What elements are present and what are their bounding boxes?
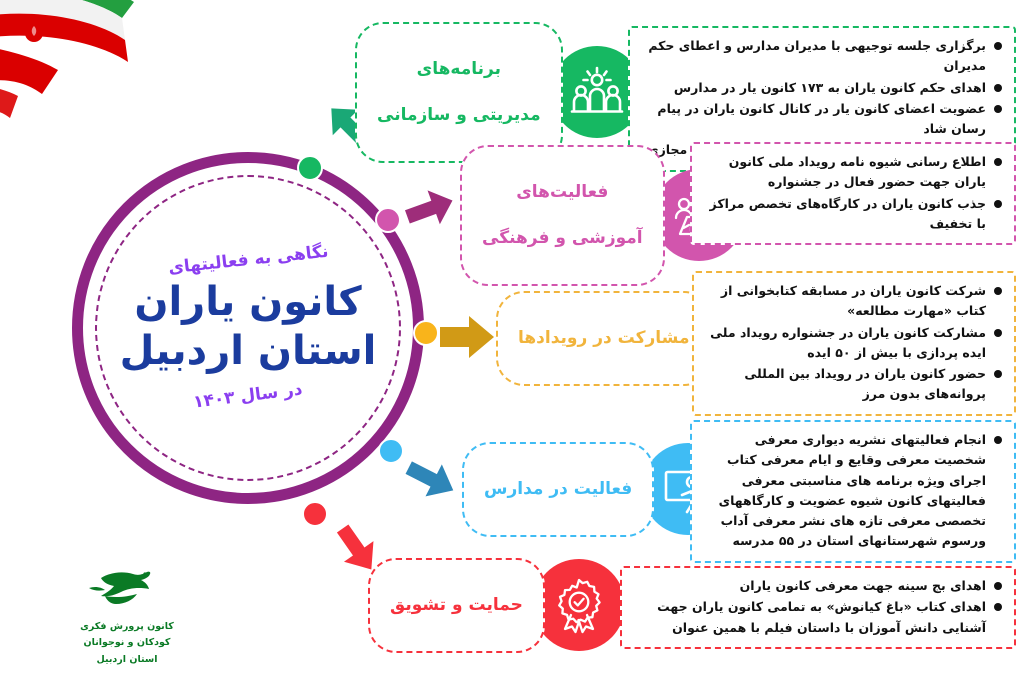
bullets-events-participation: شرکت کانون یاران در مسابقه کتابخوانی از … [692, 271, 1016, 416]
bullet-list-school-activity: انجام فعالیتهای نشریه دیواری معرفی شخصیت… [702, 430, 1002, 552]
bullet-item: اهدای کتاب «باغ کیانوش» به تمامی کانون ی… [632, 597, 1002, 638]
bullet-list-events-participation: شرکت کانون یاران در مسابقه کتابخوانی از … [704, 281, 1002, 405]
branch-label-line-1: حمایت و تشویق [390, 594, 523, 617]
bullets-school-activity: انجام فعالیتهای نشریه دیواری معرفی شخصیت… [690, 420, 1016, 563]
hub-kicker: نگاهی به فعالیتهای [167, 242, 329, 279]
bullet-item: حضور کانون یاران در رویداد بین المللی پر… [704, 364, 1002, 405]
branch-label-line-2: آموزشی و فرهنگی [482, 227, 643, 250]
org-logo-line-1: کانون پرورش فکری [62, 620, 192, 634]
org-logo-line-2: کودکان و نوجوانان [62, 636, 192, 650]
branch-support-encouragement: حمایت و تشویق [368, 558, 625, 653]
branch-label-support-encouragement[interactable]: حمایت و تشویق [368, 558, 545, 653]
bullet-item: شرکت کانون یاران در مسابقه کتابخوانی از … [704, 281, 1002, 322]
branch-management: برنامه‌های مدیریتی و سازمانی [355, 22, 643, 163]
arrow-educational-cultural [398, 178, 460, 244]
bullet-item: اهدای بج سینه جهت معرفی کانون یاران [632, 576, 1002, 596]
bullet-item: مشارکت کانون یاران در جشنواره رویداد ملی… [704, 323, 1002, 364]
kanoon-bird-logo [81, 566, 173, 614]
branch-label-line-1: فعالیت در مدارس [484, 478, 632, 501]
bullets-support-encouragement: اهدای بج سینه جهت معرفی کانون یاران اهدا… [620, 566, 1016, 649]
branch-label-educational-cultural[interactable]: فعالیت‌های آموزشی و فرهنگی [460, 145, 665, 286]
iran-flag-ribbon [0, 0, 212, 160]
bullet-list-educational-cultural: اطلاع رسانی شیوه نامه رویداد ملی کانون ی… [702, 152, 1002, 234]
hub-title-line1: کانون یاران [134, 278, 361, 327]
branch-icon-support-encouragement[interactable] [533, 559, 625, 651]
arrow-school-activity [400, 448, 462, 514]
bullets-educational-cultural: اطلاع رسانی شیوه نامه رویداد ملی کانون ی… [690, 142, 1016, 245]
arrow-events-participation [436, 312, 498, 366]
bullet-item: عضویت اعضای کانون یار در کانال کانون یار… [640, 99, 1002, 140]
branch-label-school-activity[interactable]: فعالیت در مدارس [462, 442, 654, 537]
branch-label-management[interactable]: برنامه‌های مدیریتی و سازمانی [355, 22, 563, 163]
node-dot-support [302, 501, 328, 527]
bullet-item: اهدای حکم کانون یاران به ۱۷۳ کانون یار د… [640, 78, 1002, 98]
hub-title-block: نگاهی به فعالیتهای کانون یاران استان ارد… [95, 175, 401, 481]
people-idea-icon [568, 63, 626, 121]
branch-label-line-1: برنامه‌های [377, 58, 541, 81]
bullet-item: جذب کانون یاران در کارگاه‌های تخصص مراکز… [702, 194, 1002, 235]
branch-label-events-participation[interactable]: مشارکت در رویدادها [496, 291, 712, 386]
org-logo: کانون پرورش فکری کودکان و نوجوانان استان… [62, 566, 192, 667]
award-badge-check-icon [550, 576, 608, 634]
hub-year: در سال ۱۴۰۳ [192, 379, 303, 412]
bullet-item: انجام فعالیتهای نشریه دیواری معرفی شخصیت… [702, 430, 1002, 552]
branch-label-line-1: فعالیت‌های [482, 181, 643, 204]
branch-label-line-2: مدیریتی و سازمانی [377, 104, 541, 127]
hub-title-line2: استان اردبیل [120, 327, 377, 376]
bullet-item: اطلاع رسانی شیوه نامه رویداد ملی کانون ی… [702, 152, 1002, 193]
branch-label-line-1: مشارکت در رویدادها [518, 327, 690, 350]
infographic-canvas: نگاهی به فعالیتهای کانون یاران استان ارد… [0, 0, 1024, 700]
bullet-list-support-encouragement: اهدای بج سینه جهت معرفی کانون یاران اهدا… [632, 576, 1002, 638]
bullet-item: برگزاری جلسه توجیهی با مدیران مدارس و اع… [640, 36, 1002, 77]
org-logo-line-3: استان اردبیل [62, 653, 192, 667]
